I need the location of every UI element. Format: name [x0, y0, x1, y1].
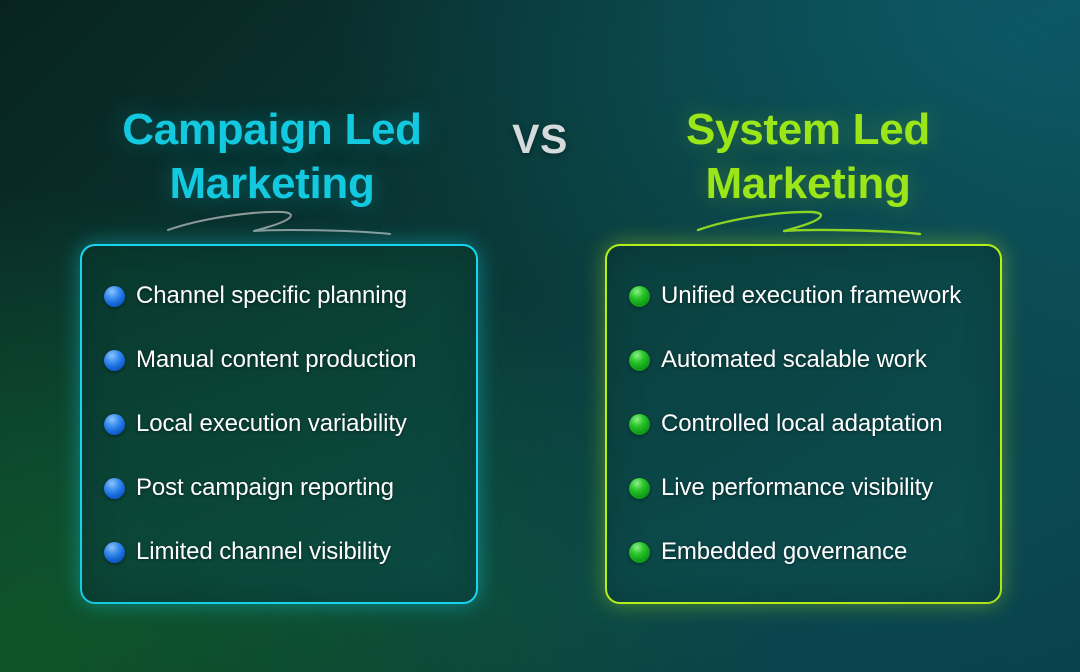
- list-item: Automated scalable work: [629, 328, 1000, 392]
- list-item: Controlled local adaptation: [629, 392, 1000, 456]
- list-item: Unified execution framework: [629, 264, 1000, 328]
- left-column-title: Campaign Led Marketing: [60, 103, 484, 210]
- green-bullet-icon: [629, 478, 650, 499]
- green-bullet-icon: [629, 350, 650, 371]
- infographic-canvas: Campaign Led Marketing VS System Led Mar…: [0, 0, 1080, 672]
- list-item: Embedded governance: [629, 520, 1000, 584]
- list-item: Post campaign reporting: [104, 456, 476, 520]
- green-bullet-icon: [629, 414, 650, 435]
- list-item-label: Embedded governance: [661, 538, 907, 566]
- blue-bullet-icon: [104, 286, 125, 307]
- blue-bullet-icon: [104, 350, 125, 371]
- list-item: Manual content production: [104, 328, 476, 392]
- list-item: Local execution variability: [104, 392, 476, 456]
- campaign-led-list: Channel specific planning Manual content…: [104, 264, 476, 584]
- list-item-label: Live performance visibility: [661, 474, 933, 502]
- list-item: Live performance visibility: [629, 456, 1000, 520]
- right-underline-squiggle-icon: [692, 196, 932, 244]
- list-item-label: Manual content production: [136, 346, 416, 374]
- list-item-label: Unified execution framework: [661, 282, 961, 310]
- list-item-label: Post campaign reporting: [136, 474, 394, 502]
- versus-label: VS: [490, 116, 590, 163]
- list-item-label: Limited channel visibility: [136, 538, 391, 566]
- list-item: Channel specific planning: [104, 264, 476, 328]
- system-led-list: Unified execution framework Automated sc…: [629, 264, 1000, 584]
- green-bullet-icon: [629, 286, 650, 307]
- list-item-label: Automated scalable work: [661, 346, 927, 374]
- list-item: Limited channel visibility: [104, 520, 476, 584]
- blue-bullet-icon: [104, 414, 125, 435]
- blue-bullet-icon: [104, 542, 125, 563]
- list-item-label: Local execution variability: [136, 410, 407, 438]
- list-item-label: Channel specific planning: [136, 282, 407, 310]
- system-led-card: Unified execution framework Automated sc…: [605, 244, 1002, 604]
- blue-bullet-icon: [104, 478, 125, 499]
- green-bullet-icon: [629, 542, 650, 563]
- campaign-led-card: Channel specific planning Manual content…: [80, 244, 478, 604]
- left-underline-squiggle-icon: [162, 196, 402, 244]
- right-column-title: System Led Marketing: [596, 103, 1020, 210]
- list-item-label: Controlled local adaptation: [661, 410, 943, 438]
